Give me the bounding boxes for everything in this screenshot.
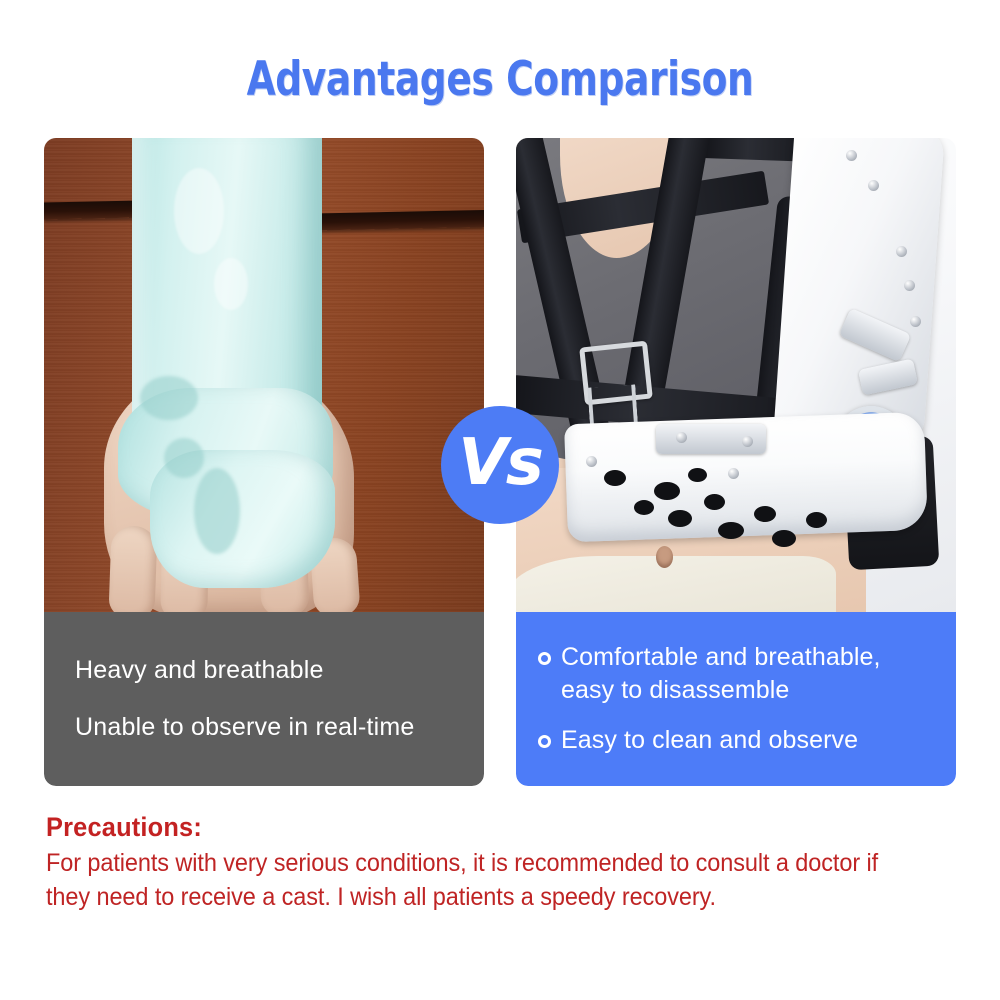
clamp-rivet: [742, 436, 753, 447]
ventilation-hole: [754, 506, 776, 522]
brace-benefit-item: Comfortable and breathable, easy to disa…: [538, 641, 932, 706]
cast-caption-line: Unable to observe in real-time: [75, 712, 484, 743]
hollow-circle-bullet-icon: [538, 652, 551, 665]
brace-benefit-label: Comfortable and breathable, easy to disa…: [561, 641, 932, 706]
model-pants: [516, 556, 836, 614]
ventilation-hole: [688, 468, 707, 482]
product-comparison-page: Advantages Comparison: [0, 0, 1000, 1000]
shell-rivet: [896, 246, 907, 257]
ventilation-hole: [654, 482, 680, 500]
shell-rivet: [728, 468, 739, 479]
cast-texture: [214, 258, 248, 310]
brace-caption-panel: Comfortable and breathable, easy to disa…: [516, 612, 956, 786]
cast-caption-panel: Heavy and breathable Unable to observe i…: [44, 612, 484, 786]
cast-photo: [44, 138, 484, 612]
ventilation-hole: [668, 510, 692, 527]
cast-edge: [164, 438, 204, 478]
brace-benefit-item: Easy to clean and observe: [538, 724, 932, 757]
model-navel: [656, 546, 673, 568]
ventilation-hole: [772, 530, 796, 547]
brace-benefit-label: Easy to clean and observe: [561, 724, 858, 757]
ventilation-hole: [704, 494, 725, 510]
precautions-body: For patients with very serious condition…: [46, 846, 911, 914]
shell-rivet: [586, 456, 597, 467]
ventilation-hole: [718, 522, 744, 539]
cast-edge: [194, 468, 240, 554]
shell-rivet: [846, 150, 857, 161]
vs-badge: Vs: [441, 406, 559, 524]
precautions-heading: Precautions:: [46, 812, 911, 843]
upper-arm-shell: [773, 138, 945, 449]
vs-label: Vs: [458, 431, 542, 495]
cast-caption-line: Heavy and breathable: [75, 655, 484, 686]
clamp-rivet: [676, 432, 687, 443]
cast-texture: [174, 168, 224, 254]
shell-rivet: [910, 316, 921, 327]
ventilation-hole: [634, 500, 654, 515]
shell-rivet: [904, 280, 915, 291]
comparison-card-brace: Comfortable and breathable, easy to disa…: [516, 138, 956, 786]
precautions-section: Precautions: For patients with very seri…: [46, 812, 966, 914]
cast-edge: [140, 376, 198, 420]
comparison-card-cast: Heavy and breathable Unable to observe i…: [44, 138, 484, 786]
ventilation-hole: [604, 470, 626, 486]
ventilation-hole: [806, 512, 827, 528]
hollow-circle-bullet-icon: [538, 735, 551, 748]
brace-photo: [516, 138, 956, 614]
shell-rivet: [868, 180, 879, 191]
